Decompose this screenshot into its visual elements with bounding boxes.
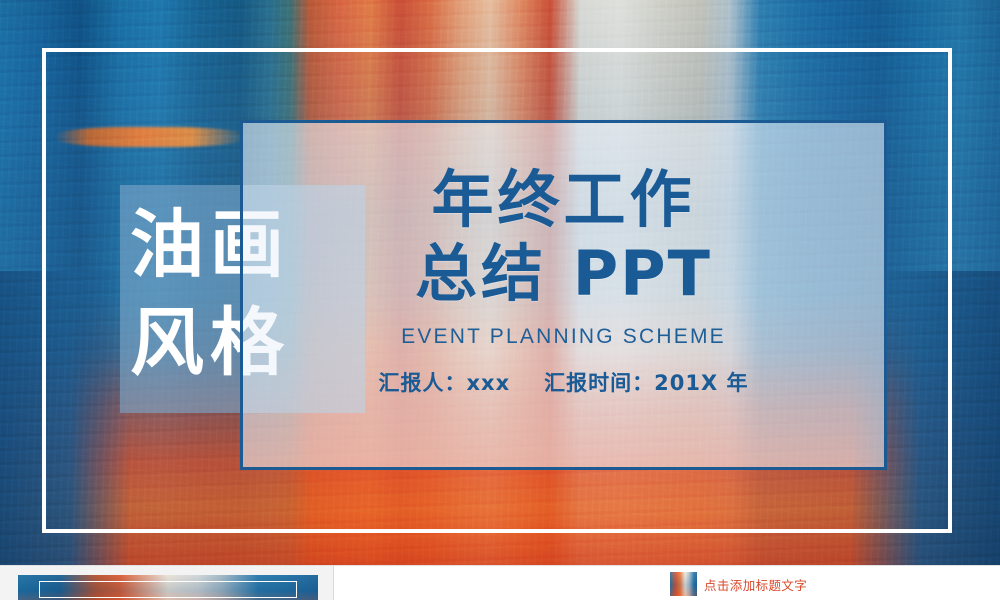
note-thumb-shading — [670, 572, 697, 596]
note-item[interactable]: 点击添加标题文字 — [670, 572, 807, 596]
bottom-tray: 点击添加标题文字 — [0, 565, 1000, 600]
meta-line: 汇报人：xxx汇报时间：201X 年 — [379, 367, 749, 397]
presenter-text: 汇报人：xxx — [379, 371, 511, 395]
slide-canvas[interactable]: 油画 风格 年终工作 总结 PPT EVENT PLANNING SCHEME … — [0, 0, 1000, 565]
slide-thumbnail[interactable] — [18, 575, 318, 600]
title-line-2: 总结 PPT — [415, 237, 712, 311]
title-line-1: 年终工作 — [431, 163, 695, 237]
thumbnail-frame — [39, 581, 297, 598]
date-text: 汇报时间：201X 年 — [544, 371, 748, 395]
note-label[interactable]: 点击添加标题文字 — [704, 575, 807, 594]
title-line-2-latin: PPT — [573, 237, 712, 310]
presentation-editor: 油画 风格 年终工作 总结 PPT EVENT PLANNING SCHEME … — [0, 0, 1000, 600]
title-line-2-cn: 总结 — [415, 237, 573, 310]
title-panel[interactable]: 年终工作 总结 PPT EVENT PLANNING SCHEME 汇报人：xx… — [240, 120, 887, 470]
slide-thumbnail-icon — [670, 572, 697, 596]
subtitle: EVENT PLANNING SCHEME — [401, 325, 726, 349]
tray-divider — [333, 566, 334, 600]
